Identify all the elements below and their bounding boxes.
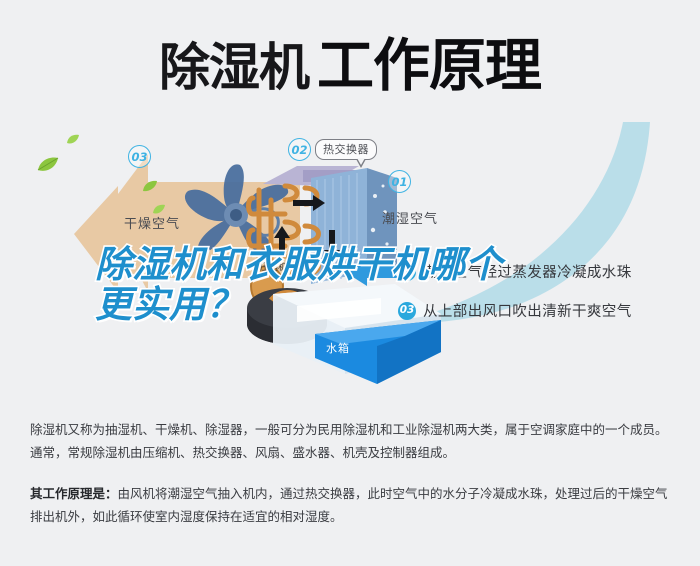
- heat-exchanger-label: 热交换器: [315, 139, 377, 160]
- diagram-marker-02: 02: [288, 138, 311, 161]
- page-title-part1: 除湿机: [159, 39, 309, 98]
- bubble-tail: [356, 159, 366, 168]
- paragraph-2-lead: 其工作原理是：: [30, 486, 118, 501]
- diagram-marker-03: 03: [128, 145, 151, 168]
- article-body: 除湿机又称为抽湿机、干燥机、除湿器，一般可分为民用除湿机和工业除湿机两大类，属于…: [30, 418, 674, 528]
- heat-exchanger-callout: 02 热交换器: [288, 138, 377, 161]
- paragraph-2: 其工作原理是：由风机将潮湿空气抽入机内，通过热交换器，此时空气中的水分子冷凝成水…: [30, 482, 674, 528]
- page-title: 除湿机工作原理: [0, 20, 700, 102]
- page-title-part2: 工作原理: [317, 33, 541, 99]
- humid-air-caption: 潮湿空气: [382, 208, 438, 227]
- paragraph-1: 除湿机又称为抽湿机、干燥机、除湿器，一般可分为民用除湿机和工业除湿机两大类，属于…: [30, 418, 674, 464]
- leaf-icon: [66, 134, 80, 145]
- paragraph-2-rest: 由风机将潮湿空气抽入机内，通过热交换器，此时空气中的水分子冷凝成水珠，处理过后的…: [30, 486, 668, 524]
- dry-air-caption: 干燥空气: [124, 213, 180, 232]
- water-tank-caption: 水箱: [326, 340, 350, 356]
- infographic-page: 除湿机工作原理: [0, 0, 700, 566]
- overlay-headline: 除湿机和衣服烘干机哪个 更实用？: [95, 245, 625, 324]
- leaf-icon: [142, 180, 158, 193]
- leaf-icon: [36, 156, 60, 174]
- diagram-marker-01: 01: [388, 170, 411, 193]
